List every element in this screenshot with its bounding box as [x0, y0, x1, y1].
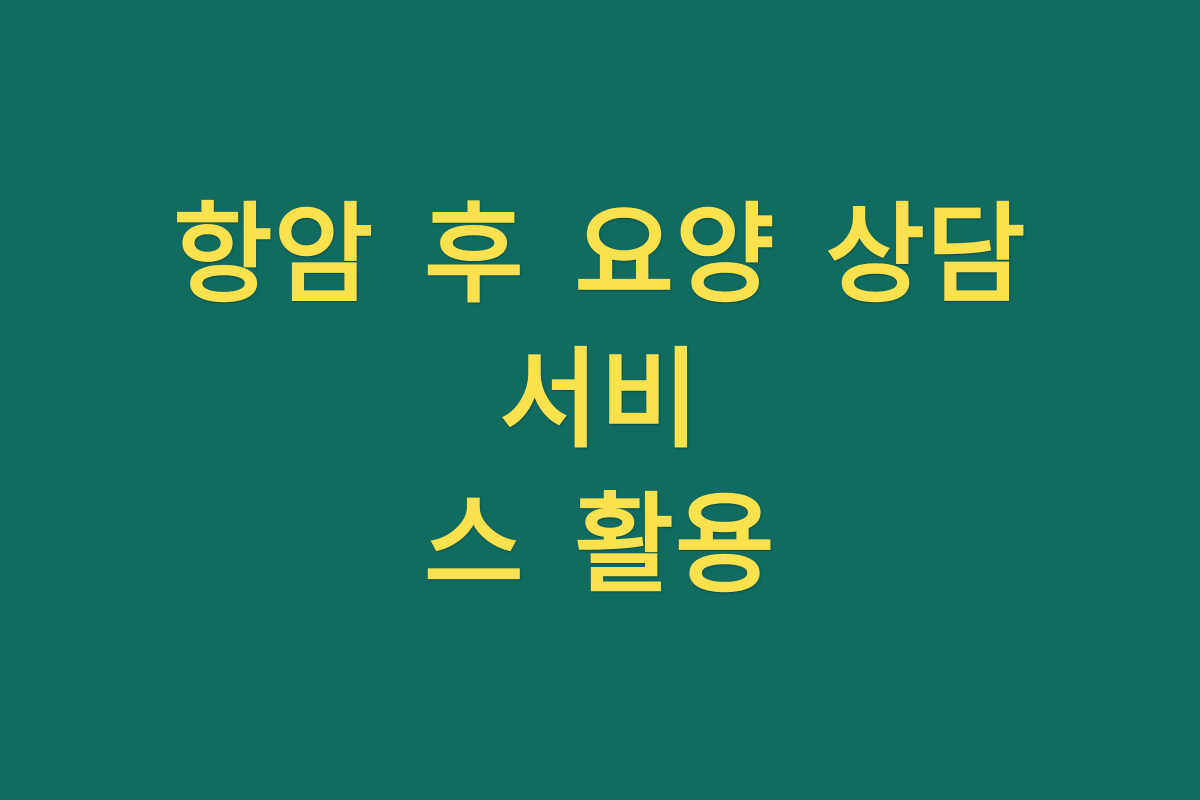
- headline-block: 항암 후 요양 상담 서비 스 활용: [100, 183, 1100, 618]
- headline-line-1: 항암 후 요양 상담 서비: [108, 183, 1092, 473]
- page-title: 항암 후 요양 상담 서비 스 활용: [108, 183, 1092, 618]
- title-card-canvas: 항암 후 요양 상담 서비 스 활용: [0, 0, 1200, 800]
- headline-line-2: 스 활용: [108, 473, 1092, 618]
